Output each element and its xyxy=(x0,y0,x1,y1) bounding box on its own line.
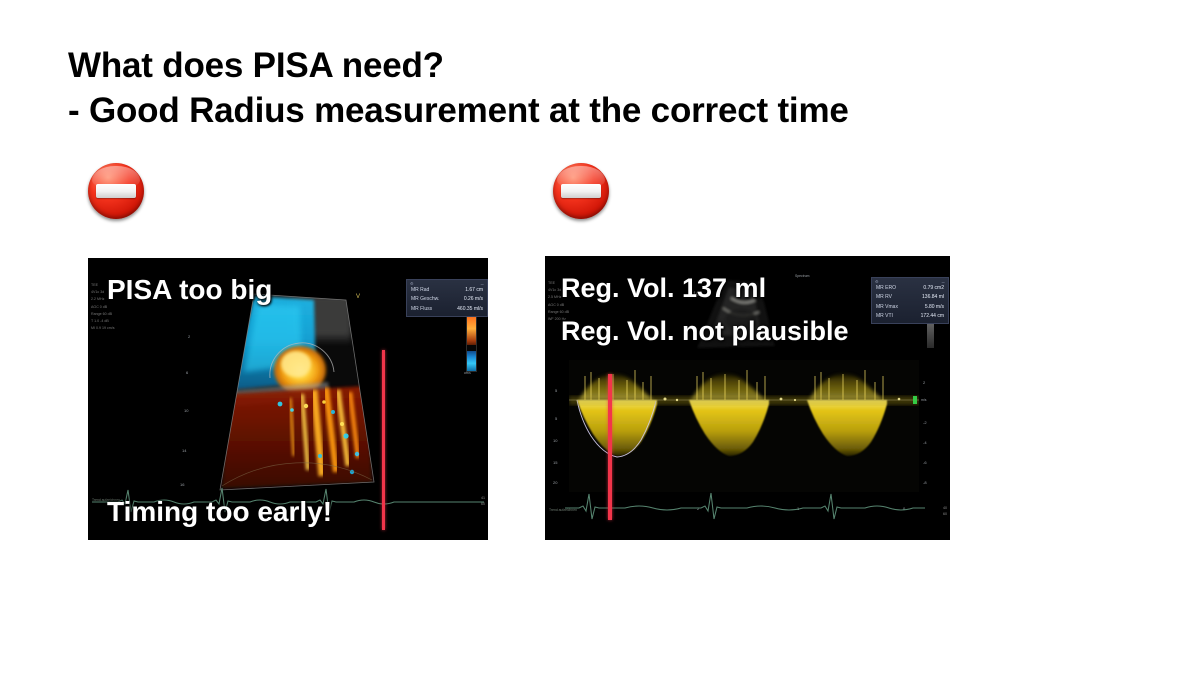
spectral-doppler-plot: 5 5 10 15 20 2 -2 -4 -6 -8 m/s xyxy=(569,360,919,492)
ultrasound-image-left: TEE 4V1c 3d 2.2 MHz AGC 0 dB Range 60 dB… xyxy=(88,258,488,540)
time-caliper-right[interactable] xyxy=(608,374,612,520)
measurement-row: MR RV 136.84 ml xyxy=(874,293,946,302)
right-axis-tick: -6 xyxy=(923,460,927,465)
corner-value: 60 xyxy=(481,502,485,508)
measure-label: MR Rad xyxy=(411,286,429,295)
velocity-unit: m/s xyxy=(921,398,926,402)
no-entry-icon-right xyxy=(553,163,609,219)
right-axis-tick: -2 xyxy=(923,420,927,425)
caption-timing-too-early: Timing too early! xyxy=(107,496,332,528)
time-caliper-left[interactable] xyxy=(382,350,385,530)
measure-value: 460.35 ml/s xyxy=(457,305,483,314)
left-axis-tick: 10 xyxy=(553,438,557,443)
depth-tick: 10 xyxy=(184,408,188,413)
color-velocity-scale xyxy=(466,310,477,372)
title-line-2: - Good Radius measurement at the correct… xyxy=(68,89,1108,134)
depth-tick: 6 xyxy=(186,370,188,375)
measure-label: MR Vmax xyxy=(876,303,898,312)
measurement-row: MR Fluss 460.35 ml/s xyxy=(409,305,485,314)
measurement-row: MR VTI 172.44 cm xyxy=(874,312,946,321)
measure-label: MR RV xyxy=(876,293,892,302)
corner-value: 40 xyxy=(943,506,947,512)
measure-value: 136.84 ml xyxy=(922,293,944,302)
no-entry-bar xyxy=(561,184,600,197)
measurement-panel-left[interactable]: ⚙ ⚊ MR Rad 1.67 cm MR Geschw. 0.26 m/s M… xyxy=(406,279,488,317)
page-title: What does PISA need? - Good Radius measu… xyxy=(68,44,1108,134)
depth-tick: 2 xyxy=(188,334,190,339)
corner-value: 41 xyxy=(481,496,485,502)
svg-text:V: V xyxy=(356,294,360,300)
measurement-panel-right[interactable]: ⚙ ⚊ MR ERO 0.79 cm2 MR RV 136.84 ml MR V… xyxy=(871,277,949,324)
measure-value: 5.80 m/s xyxy=(925,303,944,312)
measure-value: 0.26 m/s xyxy=(464,295,483,304)
measure-value: 0.79 cm2 xyxy=(923,284,944,293)
right-axis-tick: -8 xyxy=(923,480,927,485)
doppler-svg xyxy=(569,360,919,492)
corner-label-left: 41 60 xyxy=(481,496,485,508)
caption-reg-vol: Reg. Vol. 137 ml xyxy=(561,273,766,304)
ecg-label-right: Trend aufzeichnen xyxy=(549,508,577,512)
left-axis-tick: 5 xyxy=(555,416,557,421)
no-entry-bar xyxy=(96,184,135,197)
slide-canvas: What does PISA need? - Good Radius measu… xyxy=(0,0,1200,675)
spectrum-label: Spectrum xyxy=(795,274,810,278)
depth-tick: 14 xyxy=(182,448,186,453)
param-line: T 1.0 -4 dB xyxy=(91,318,115,325)
title-line-1: What does PISA need? xyxy=(68,44,1108,89)
measure-label: MR ERO xyxy=(876,284,896,293)
right-axis-tick: 2 xyxy=(923,380,925,385)
measure-label: MR Geschw. xyxy=(411,295,439,304)
measurement-row: MR Geschw. 0.26 m/s xyxy=(409,295,485,304)
measure-value: 1.67 cm xyxy=(465,286,483,295)
corner-value: 60 xyxy=(943,512,947,518)
measurement-row: MR Vmax 5.80 m/s xyxy=(874,303,946,312)
param-line: Range 60 dB xyxy=(91,311,115,318)
measurement-row: MR Rad 1.67 cm xyxy=(409,286,485,295)
measure-value: 172.44 cm xyxy=(921,312,944,321)
measurement-row: MR ERO 0.79 cm2 xyxy=(874,284,946,293)
right-axis-tick: -4 xyxy=(923,440,927,445)
param-line: Range 60 dB xyxy=(548,309,569,316)
left-axis-tick: 5 xyxy=(555,388,557,393)
ultrasound-image-right: TEE 4V1c 3d 2.5 MHz AGC 0 dB Range 60 dB… xyxy=(545,256,950,540)
measure-label: MR VTI xyxy=(876,312,893,321)
caption-reg-vol-not-plausible: Reg. Vol. not plausible xyxy=(561,316,849,347)
colorbar-cool xyxy=(467,351,476,371)
no-entry-icon-left xyxy=(88,163,144,219)
caption-pisa-too-big: PISA too big xyxy=(107,274,272,306)
left-axis-tick: 20 xyxy=(553,480,557,485)
param-line: MI 0.9 19 cm/s xyxy=(91,325,115,332)
left-axis-tick: 15 xyxy=(553,460,557,465)
measure-label: MR Fluss xyxy=(411,305,432,314)
corner-label-right: 40 60 xyxy=(943,506,947,518)
ecg-trace-right xyxy=(565,488,925,526)
